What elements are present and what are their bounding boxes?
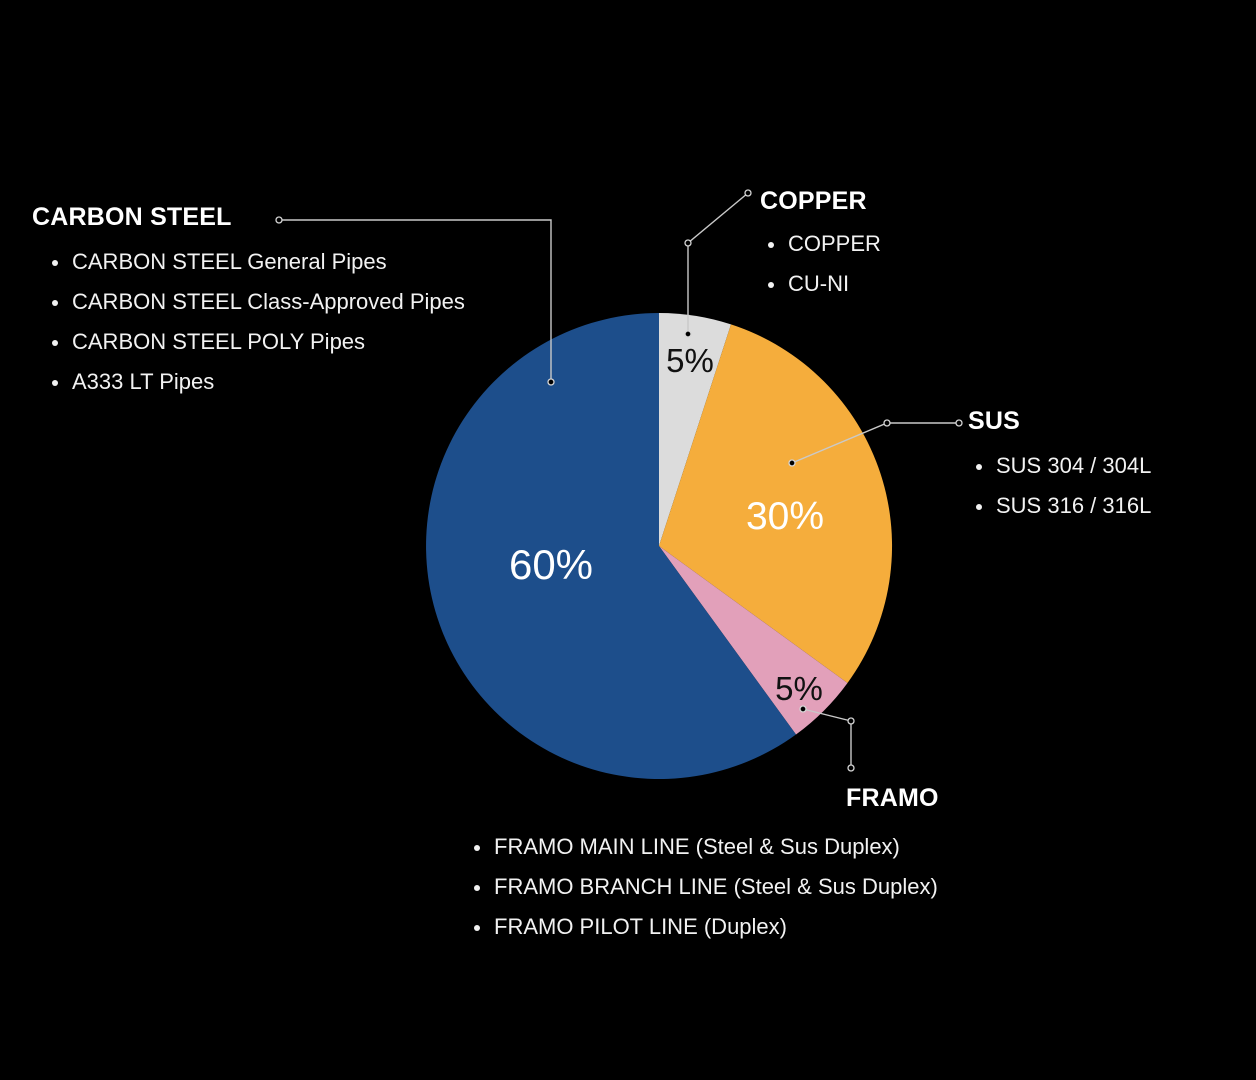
list-item: CARBON STEEL POLY Pipes <box>44 322 465 362</box>
pie-label-carbon-steel: 60% <box>509 541 593 588</box>
callout-list-sus: SUS 304 / 304L SUS 316 / 316L <box>968 446 1151 526</box>
list-item: A333 LT Pipes <box>44 362 465 402</box>
list-item: FRAMO PILOT LINE (Duplex) <box>466 907 939 947</box>
infographic-canvas: 5% 30% 5% 60% CARBON STEEL CARBON STEEL … <box>0 0 1256 1080</box>
pie-label-sus: 30% <box>746 495 824 538</box>
callout-title-carbon-steel: CARBON STEEL <box>32 204 465 232</box>
list-item: COPPER <box>760 224 881 264</box>
pie-label-framo: 5% <box>775 670 823 707</box>
callout-sus: SUS SUS 304 / 304L SUS 316 / 316L <box>968 408 1151 526</box>
callout-title-copper: COPPER <box>760 188 881 216</box>
callout-list-framo: FRAMO MAIN LINE (Steel & Sus Duplex) FRA… <box>466 827 939 947</box>
list-item: CARBON STEEL General Pipes <box>44 242 465 282</box>
callout-list-copper: COPPER CU-NI <box>760 224 881 304</box>
callout-carbon-steel: CARBON STEEL CARBON STEEL General Pipes … <box>32 204 465 402</box>
callout-framo: FRAMO FRAMO MAIN LINE (Steel & Sus Duple… <box>466 785 939 947</box>
list-item: SUS 304 / 304L <box>968 446 1151 486</box>
list-item: SUS 316 / 316L <box>968 486 1151 526</box>
pie-label-copper: 5% <box>666 342 714 379</box>
list-item: FRAMO MAIN LINE (Steel & Sus Duplex) <box>466 827 939 867</box>
list-item: CARBON STEEL Class-Approved Pipes <box>44 282 465 322</box>
list-item: CU-NI <box>760 264 881 304</box>
callout-title-framo: FRAMO <box>846 785 939 813</box>
callout-title-sus: SUS <box>968 408 1151 436</box>
list-item: FRAMO BRANCH LINE (Steel & Sus Duplex) <box>466 867 939 907</box>
callout-list-carbon-steel: CARBON STEEL General Pipes CARBON STEEL … <box>44 242 465 402</box>
callout-copper: COPPER COPPER CU-NI <box>760 188 881 304</box>
